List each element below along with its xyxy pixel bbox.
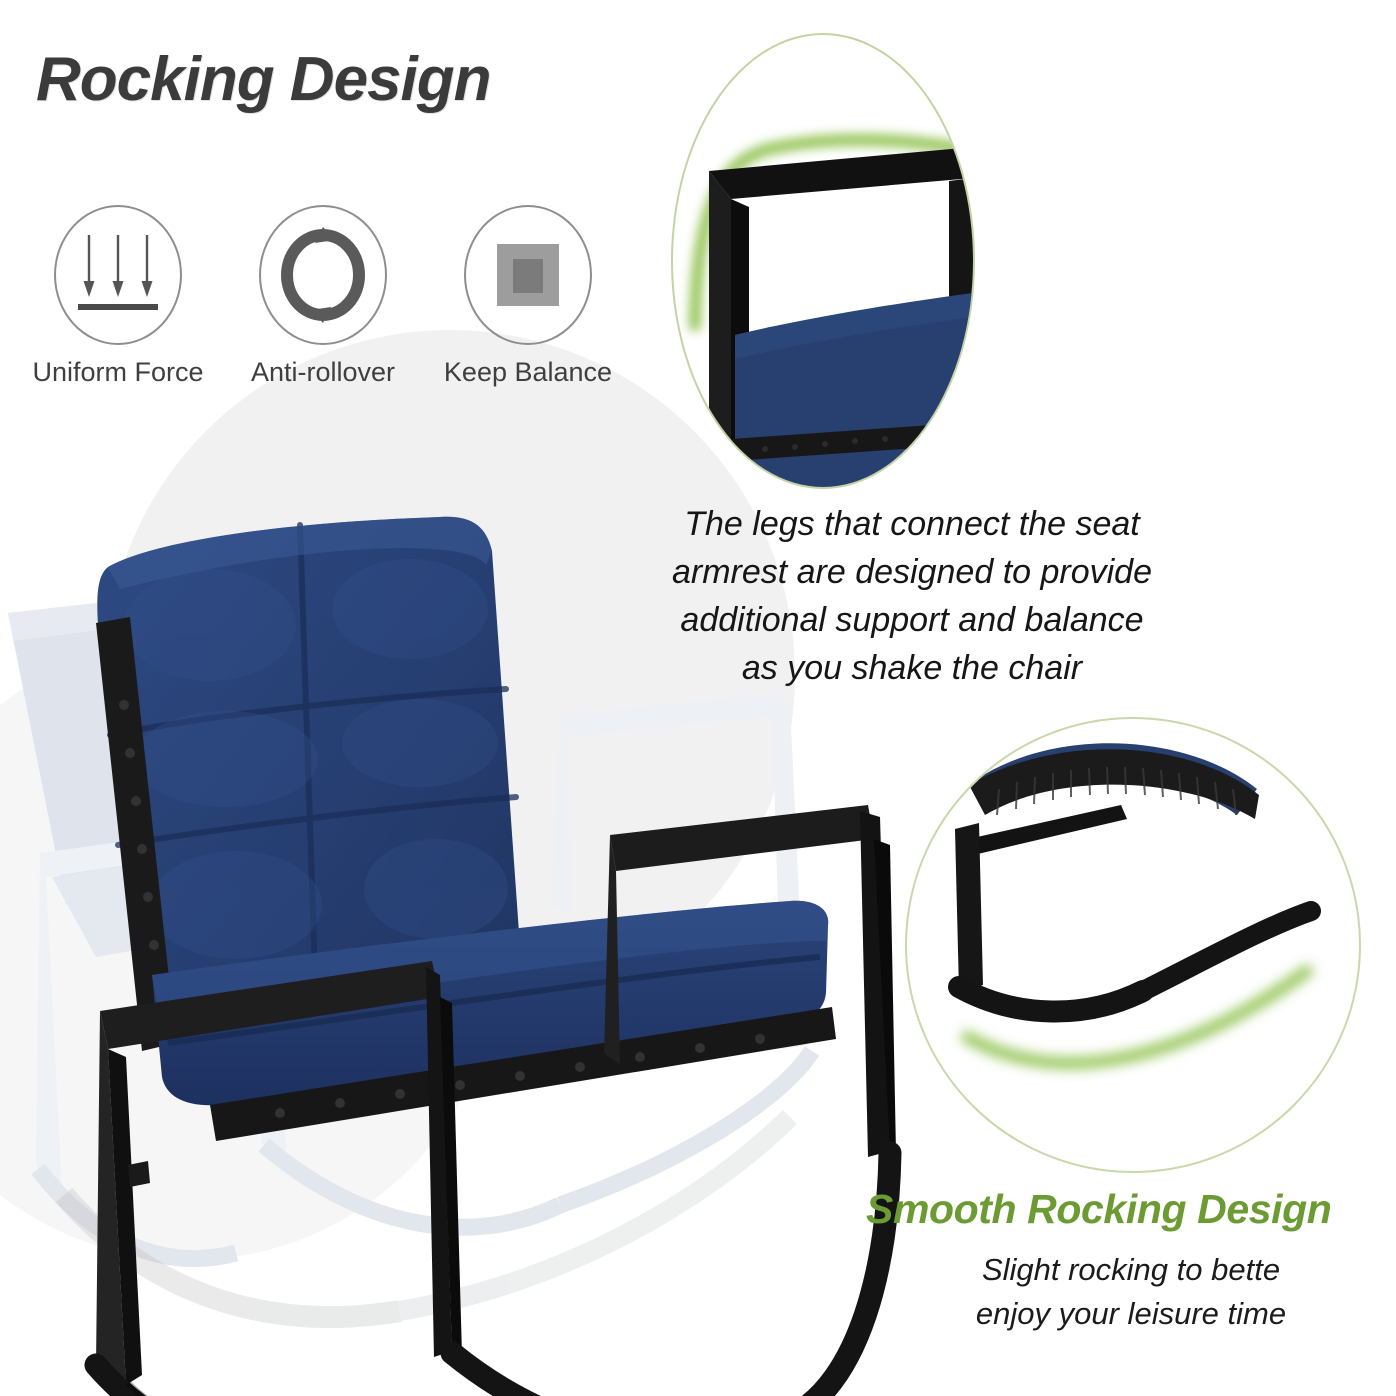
feature-label: Keep Balance	[428, 357, 628, 388]
feature-label: Anti-rollover	[223, 357, 423, 388]
circular-rotation-arrows-icon	[275, 223, 371, 327]
feature-uniform-force: Uniform Force	[18, 205, 218, 388]
rocker-runners	[96, 1153, 890, 1396]
nested-squares-icon	[497, 244, 559, 306]
callout-bottom-text: Slight rocking to bette enjoy your leisu…	[876, 1248, 1386, 1336]
infographic-canvas: Rocking Design U	[0, 0, 1396, 1396]
armrest-frame-closeup	[673, 35, 973, 487]
downward-arrows-on-bar-icon	[56, 207, 180, 343]
inset-rocker-base	[905, 717, 1361, 1173]
callout-bottom-line: Slight rocking to bette	[876, 1248, 1386, 1292]
feature-icon-ring	[464, 205, 592, 345]
feature-keep-balance: Keep Balance	[428, 205, 628, 388]
feature-icon-ring	[259, 205, 387, 345]
callout-bottom-heading: Smooth Rocking Design	[866, 1186, 1396, 1233]
feature-label: Uniform Force	[18, 357, 218, 388]
rocker-base-closeup	[907, 719, 1359, 1171]
feature-icon-row: Uniform Force Anti-rollover Keep Balance	[18, 205, 638, 400]
feature-icon-ring	[54, 205, 182, 345]
product-chair-illustration	[0, 505, 900, 1396]
callout-bottom-line: enjoy your leisure time	[876, 1292, 1386, 1336]
nested-squares-inner	[513, 259, 543, 293]
page-title: Rocking Design	[36, 44, 491, 115]
inset-armrest-frame	[671, 33, 975, 489]
feature-anti-rollover: Anti-rollover	[223, 205, 423, 388]
